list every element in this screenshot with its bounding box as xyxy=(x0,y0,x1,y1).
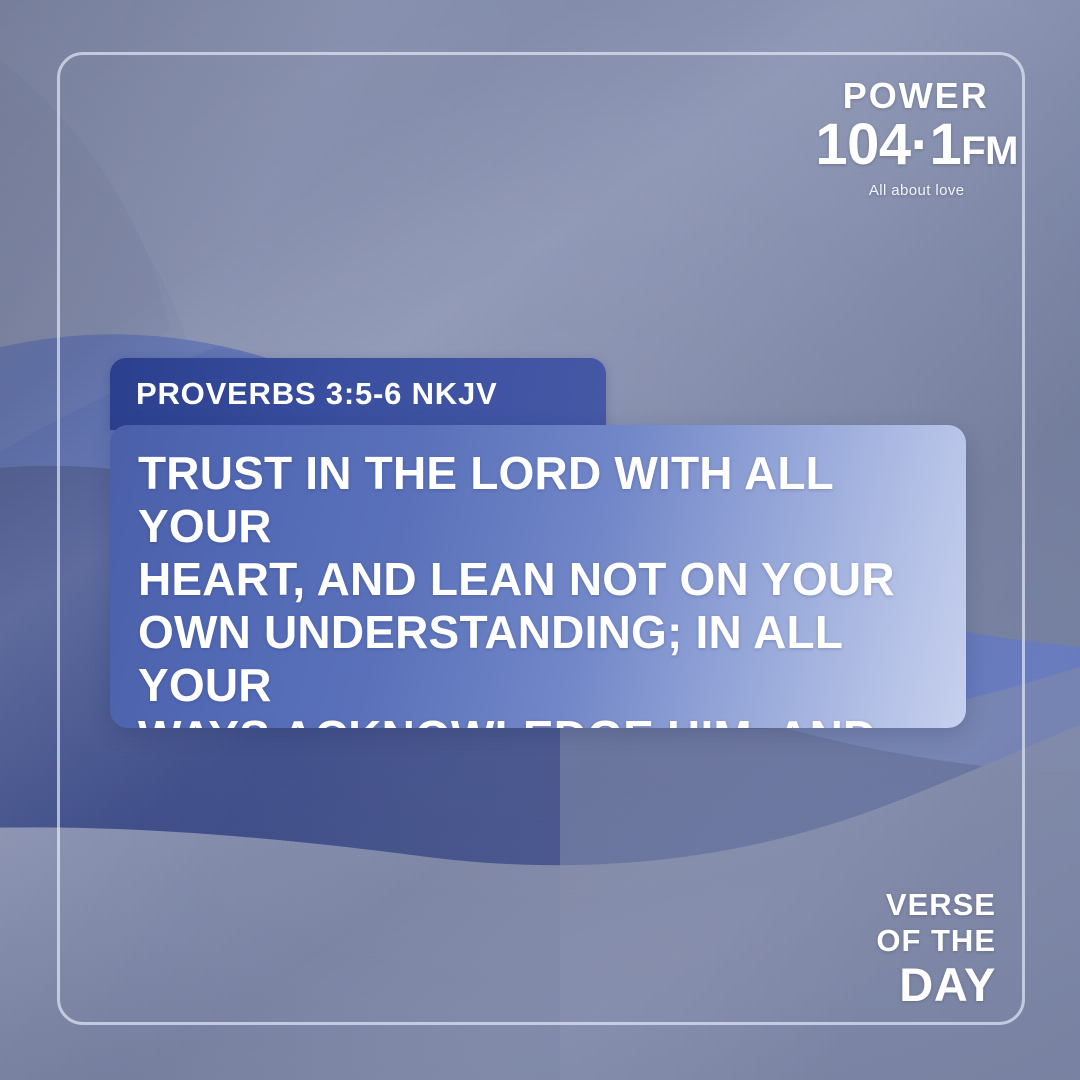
logo-power-text: POWER xyxy=(815,78,1016,114)
badge-line-verse: VERSE xyxy=(876,889,996,922)
verse-of-the-day-badge: VERSE OF THE DAY xyxy=(876,889,996,1010)
verse-line: TRUST IN THE LORD WITH ALL YOUR xyxy=(138,447,936,553)
station-logo: POWER 104·1FM All about love xyxy=(815,78,1018,198)
verse-reference-tab: PROVERBS 3:5-6 NKJV xyxy=(110,358,606,430)
verse-of-the-day-graphic: POWER 104·1FM All about love PROVERBS 3:… xyxy=(0,0,1080,1080)
logo-tagline: All about love xyxy=(815,183,1018,198)
verse-line: WAYS ACKNOWLEDGE HIM, AND HE xyxy=(138,711,936,728)
badge-line-of-the: OF THE xyxy=(876,925,996,958)
verse-line: OWN UNDERSTANDING; IN ALL YOUR xyxy=(138,606,936,712)
verse-line: HEART, AND LEAN NOT ON YOUR xyxy=(138,553,936,606)
verse-body-text: TRUST IN THE LORD WITH ALL YOUR HEART, A… xyxy=(138,447,936,728)
badge-line-day: DAY xyxy=(876,960,996,1010)
logo-band-fm: FM xyxy=(961,129,1018,173)
logo-frequency-number: 104·1 xyxy=(815,112,961,177)
verse-reference-text: PROVERBS 3:5-6 NKJV xyxy=(136,376,497,412)
verse-text-card: TRUST IN THE LORD WITH ALL YOUR HEART, A… xyxy=(110,425,966,728)
logo-frequency: 104·1FM xyxy=(815,116,1018,174)
